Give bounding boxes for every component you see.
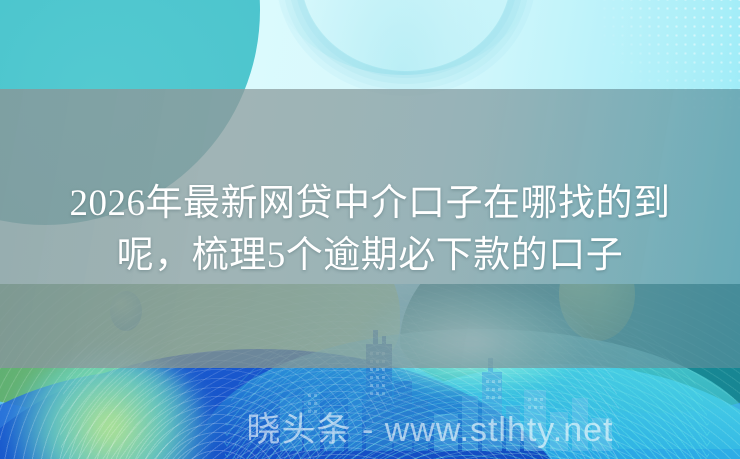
watermark-text: 晓头条 - www.stlhty.net	[0, 407, 740, 453]
article-thumbnail-banner: 2026年最新网贷中介口子在哪找的到 呢，梳理5个逾期必下款的口子 晓头条 - …	[0, 0, 740, 459]
headline-text: 2026年最新网贷中介口子在哪找的到 呢，梳理5个逾期必下款的口子	[0, 178, 740, 282]
